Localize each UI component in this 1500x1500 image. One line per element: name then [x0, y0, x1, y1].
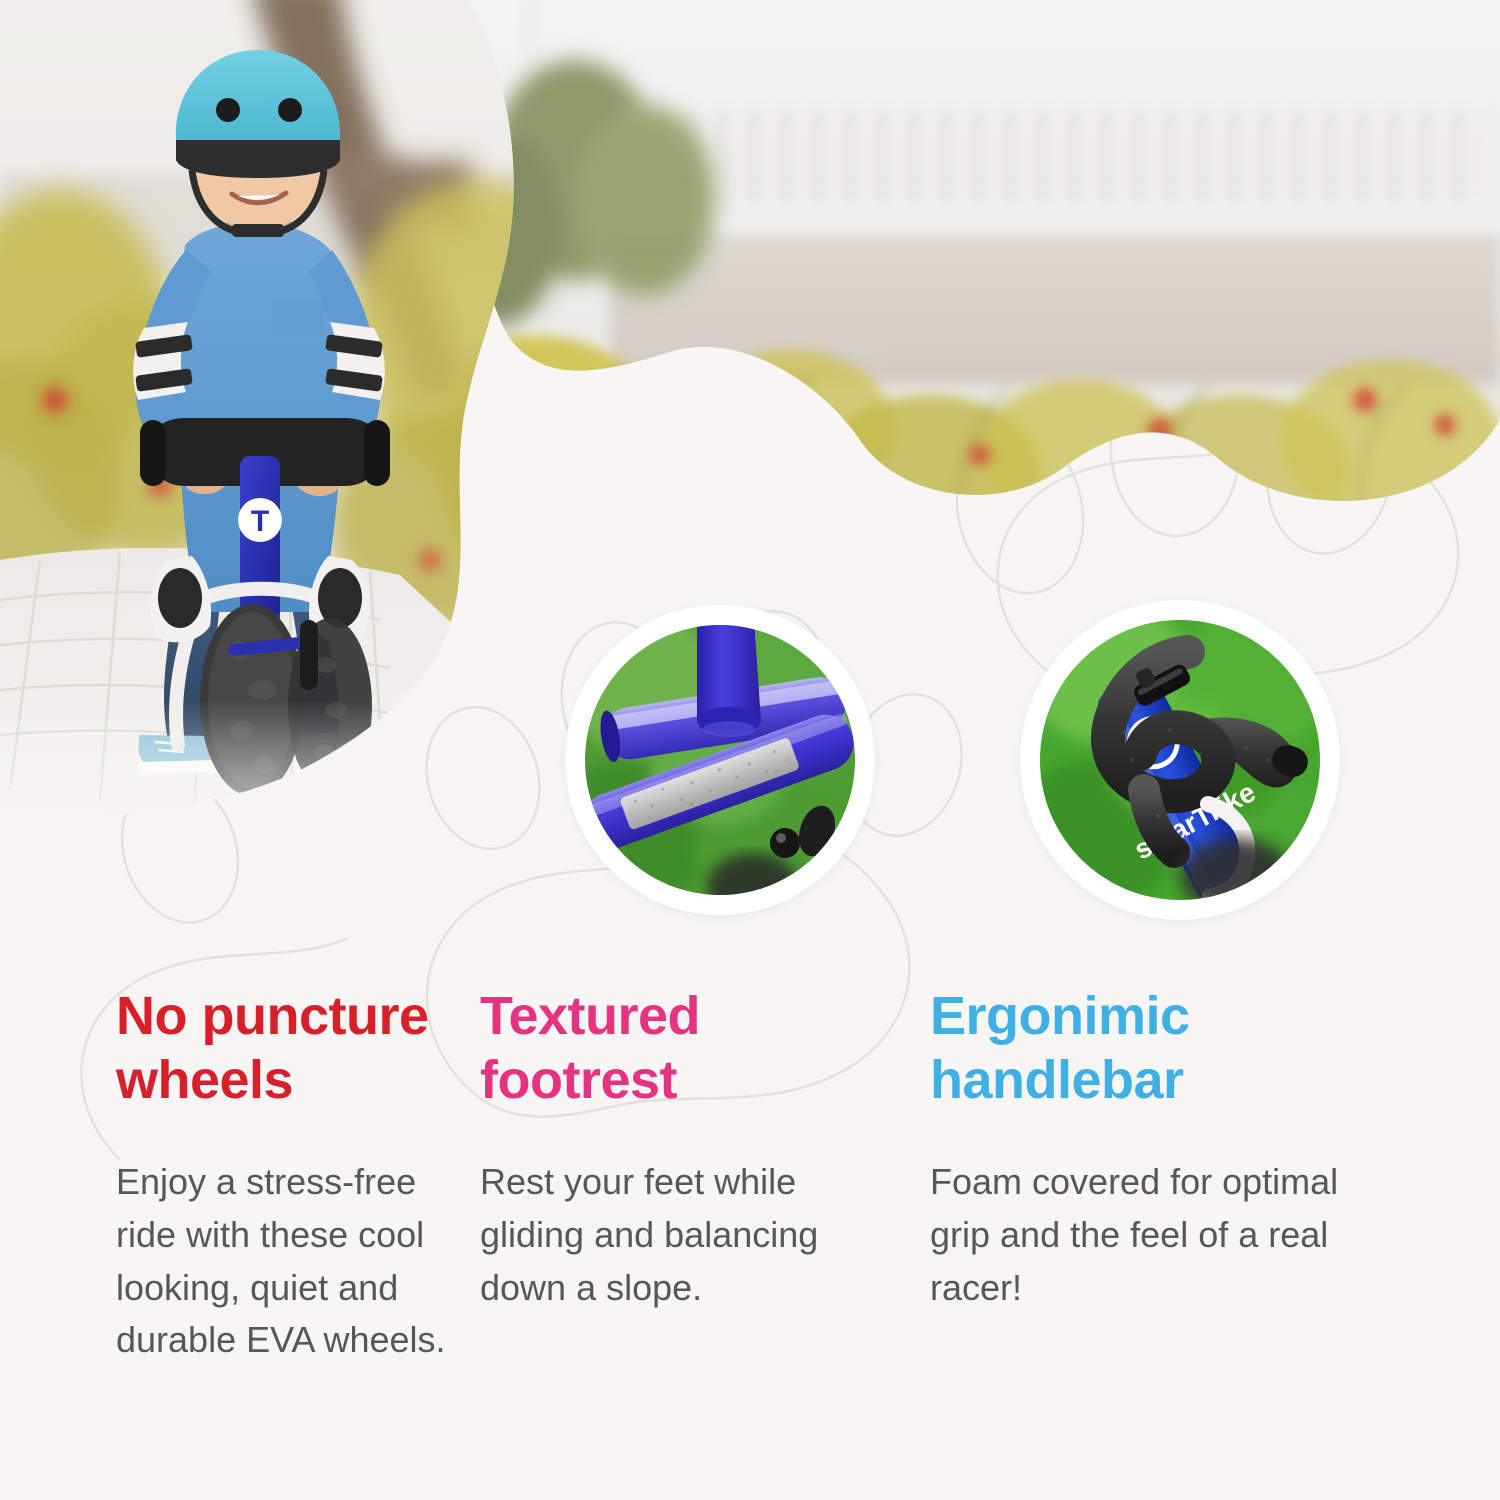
feature-column-textured-footrest: Textured footrest Rest your feet while g…: [480, 985, 915, 1314]
feature-body-textured-footrest: Rest your feet while gliding and balanci…: [480, 1156, 885, 1314]
feature-title-textured-footrest: Textured footrest: [480, 985, 885, 1112]
feature-column-no-puncture-wheels: No puncture wheels Enjoy a stress-free r…: [0, 985, 480, 1367]
feature-title-ergonomic-handlebar: Ergonimic handlebar: [930, 985, 1345, 1112]
feature-columns: No puncture wheels Enjoy a stress-free r…: [0, 985, 1500, 1367]
feature-circle-handlebar: T smarTrike: [1020, 600, 1340, 920]
feature-body-ergonomic-handlebar: Foam covered for optimal grip and the fe…: [930, 1156, 1345, 1314]
hero-boy-on-bike-photo: T: [0, 0, 640, 860]
feature-circle-footrest: [565, 605, 875, 915]
feature-title-no-puncture-wheels: No puncture wheels: [116, 985, 462, 1112]
feature-body-no-puncture-wheels: Enjoy a stress-free ride with these cool…: [116, 1156, 462, 1366]
infographic-page: T: [0, 0, 1500, 1500]
footrest-closeup-photo: [585, 625, 855, 895]
feature-column-ergonomic-handlebar: Ergonimic handlebar Foam covered for opt…: [915, 985, 1385, 1314]
svg-text:T: T: [251, 505, 269, 538]
handlebar-closeup-photo: T smarTrike: [1040, 620, 1320, 900]
